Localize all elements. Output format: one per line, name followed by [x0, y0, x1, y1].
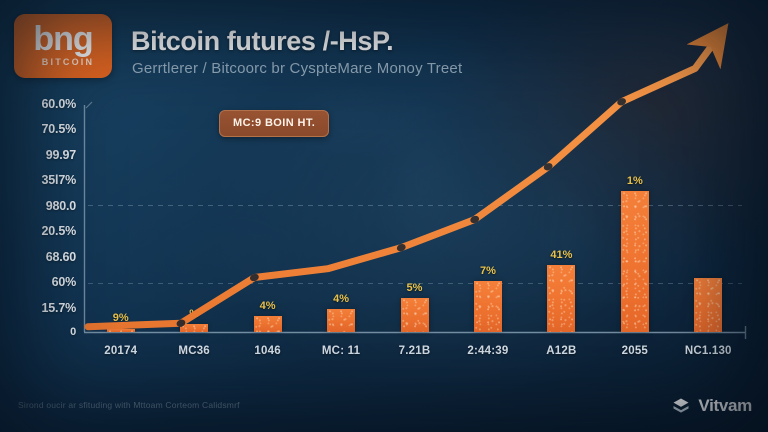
watermark: Vitvam: [671, 396, 752, 416]
x-axis-tick-label: 20174: [104, 345, 137, 357]
bar: [474, 281, 502, 332]
bar: [401, 298, 429, 332]
bar: [254, 316, 282, 332]
bar-value-label: 1%: [627, 175, 643, 187]
x-axis-tick-label: 2055: [622, 345, 648, 357]
bar-value-label: 7%: [480, 265, 496, 277]
bar: [621, 191, 649, 332]
bar: [547, 265, 575, 332]
footer-disclaimer: Sirond oucir ar sfituding with Mttoam Co…: [18, 400, 240, 410]
bar: [327, 309, 355, 332]
bar-value-label: 4%: [333, 293, 349, 305]
x-axis-tick-label: 7.21B: [399, 345, 431, 357]
stacked-layers-icon: [671, 396, 691, 416]
x-axis-tick-label: 2:44:39: [467, 345, 508, 357]
bar: [180, 324, 208, 332]
x-axis-tick-label: MC36: [178, 345, 209, 357]
bar: [694, 278, 722, 332]
infographic-canvas: bng BITCOIN Bitcoin futures /-HsP. Gerrt…: [0, 0, 768, 432]
x-axis-tick-label: MC: 11: [322, 345, 360, 357]
bar-series: 9%%4%4%5%7%41%1%: [0, 0, 768, 432]
x-axis-tick-label: A12B: [546, 345, 576, 357]
bar-value-label: 41%: [550, 249, 572, 261]
bar-value-label: 4%: [260, 300, 276, 312]
bar: [107, 329, 135, 333]
bar-value-label: %: [189, 308, 199, 320]
x-axis-labels: 20174MC361046MC: 117.21B2:44:39A12B2055N…: [0, 345, 768, 365]
x-axis-tick-label: 1046: [254, 345, 280, 357]
bar-value-label: 5%: [407, 282, 423, 294]
bar-value-label: 9%: [113, 312, 129, 324]
watermark-label: Vitvam: [698, 396, 752, 416]
x-axis-tick-label: NC1.130: [685, 345, 732, 357]
